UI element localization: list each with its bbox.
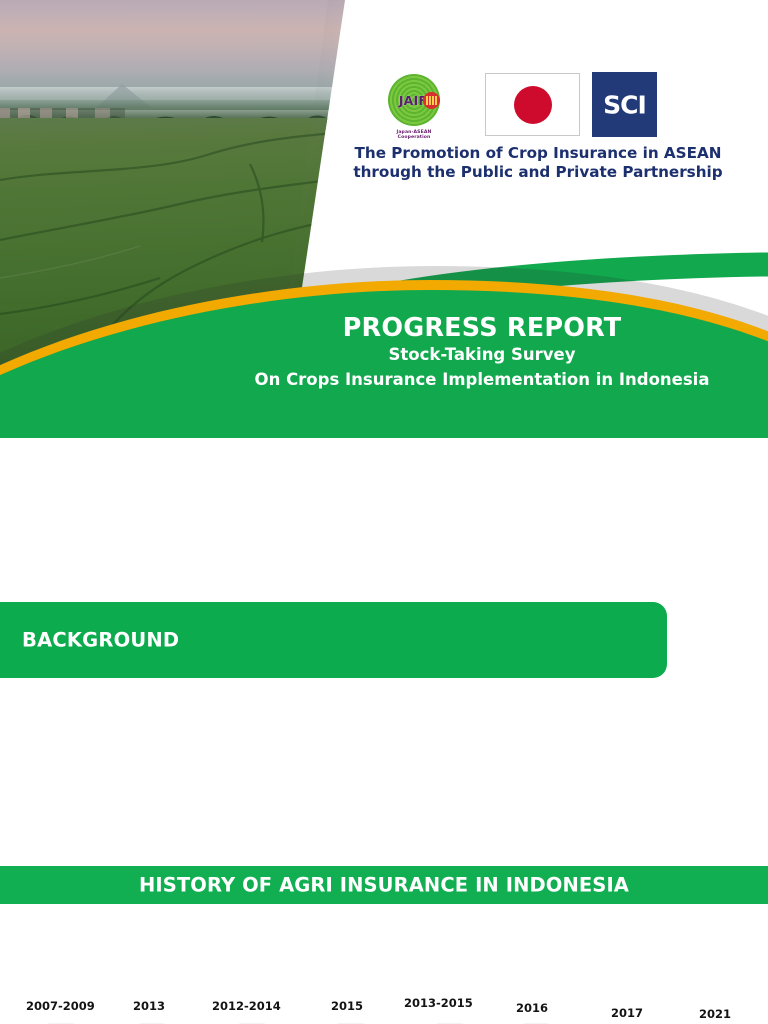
sci-logo: SCI	[592, 72, 657, 137]
japan-flag-sun	[514, 86, 552, 124]
project-subtitle-line2: through the Public and Private Partnersh…	[318, 163, 758, 182]
asean-emblem-icon	[423, 92, 440, 109]
timeline-year-label: 2013	[133, 999, 165, 1013]
background-section-bar: BACKGROUND	[0, 602, 667, 678]
project-subtitle: The Promotion of Crop Insurance in ASEAN…	[318, 144, 758, 182]
history-timeline: 2007-200920132012-201420152013-201520162…	[0, 960, 768, 1024]
timeline-year-label: 2017	[611, 1006, 643, 1020]
history-section-bar: HISTORY OF AGRI INSURANCE IN INDONESIA	[0, 866, 768, 904]
jaif-logo: JAIF Japan-ASEAN Cooperation	[380, 74, 448, 140]
japan-flag-icon	[485, 73, 580, 136]
project-subtitle-line1: The Promotion of Crop Insurance in ASEAN	[318, 144, 758, 163]
timeline-year-label: 2012-2014	[212, 999, 281, 1013]
page-title: PROGRESS REPORT	[196, 313, 768, 343]
jaif-caption: Japan-ASEAN Cooperation	[380, 130, 448, 140]
report-subtitle-2: On Crops Insurance Implementation in Ind…	[196, 367, 768, 392]
timeline-year-label: 2016	[516, 1001, 548, 1015]
history-section-label: HISTORY OF AGRI INSURANCE IN INDONESIA	[0, 874, 768, 897]
timeline-year-label: 2013-2015	[404, 996, 473, 1010]
timeline-year-label: 2007-2009	[26, 999, 95, 1013]
report-title-block: PROGRESS REPORT Stock-Taking Survey On C…	[196, 313, 768, 392]
partner-logos: JAIF Japan-ASEAN Cooperation SCI	[380, 72, 670, 142]
sci-wordmark: SCI	[592, 90, 657, 119]
timeline-year-label: 2015	[331, 999, 363, 1013]
timeline-year-label: 2021	[699, 1007, 731, 1021]
report-subtitle-1: Stock-Taking Survey	[196, 343, 768, 367]
background-section-label: BACKGROUND	[22, 629, 179, 652]
cover-header: JAIF Japan-ASEAN Cooperation SCI The Pro…	[0, 0, 768, 438]
